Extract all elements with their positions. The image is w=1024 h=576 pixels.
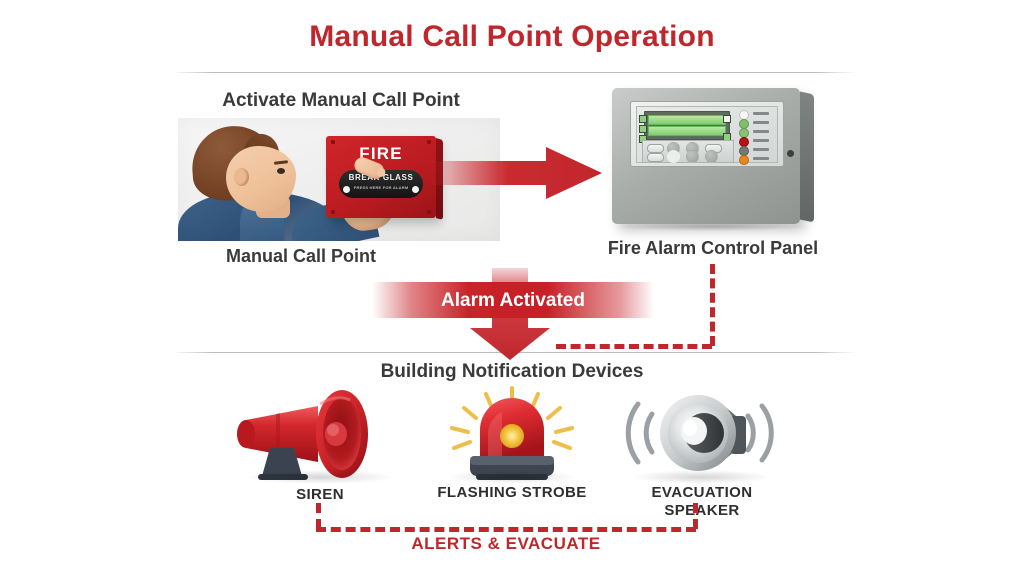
panel-button[interactable] <box>647 153 664 162</box>
strobe-light-icon <box>424 386 600 482</box>
person-eye-icon <box>277 168 285 174</box>
led-label-bar <box>753 112 769 115</box>
person-hair-icon <box>190 123 281 203</box>
section-heading-activate: Activate Manual Call Point <box>176 90 506 112</box>
device-flashing-strobe: FLASHING STROBE <box>424 386 600 518</box>
device-shadow <box>245 470 395 484</box>
person-face-icon <box>226 146 296 212</box>
footer-bracket-left <box>316 503 321 529</box>
lcd-status-square <box>723 115 731 123</box>
device-label-line-2: SPEAKER <box>614 502 790 520</box>
panel-button[interactable] <box>705 150 718 163</box>
device-shadow <box>447 470 577 484</box>
panel-bezel <box>630 101 784 167</box>
panel-led-column <box>737 109 777 165</box>
loudspeaker-icon <box>614 386 790 482</box>
break-glass-label: BREAK GLASS <box>339 173 423 182</box>
person-finger-icon <box>352 155 386 181</box>
page-title: Manual Call Point Operation <box>0 20 1024 54</box>
break-glass-strip[interactable]: BREAK GLASS PRESS HERE FOR ALARM <box>339 170 423 198</box>
panel-button[interactable] <box>667 150 680 163</box>
device-label-flashing-strobe: FLASHING STROBE <box>424 484 600 502</box>
led-label-bar <box>753 157 769 160</box>
screw-icon <box>331 210 335 214</box>
footer-bracket-bottom <box>316 527 696 532</box>
indicator-dot-icon <box>412 186 419 193</box>
fire-alarm-control-panel[interactable] <box>604 88 816 230</box>
panel-enclosure <box>612 88 800 224</box>
screw-icon <box>331 140 335 144</box>
panel-faceplate <box>636 106 778 163</box>
footer-bracket-right <box>693 503 698 529</box>
panel-lcd-display <box>644 111 730 140</box>
footer-label: ALERTS & EVACUATE <box>316 534 696 554</box>
alarm-activated-label: Alarm Activated <box>372 290 654 312</box>
diagram-canvas: Manual Call Point Operation Activate Man… <box>0 0 1024 576</box>
section-heading-devices: Building Notification Devices <box>332 361 692 383</box>
alarm-activated-banner: Alarm Activated <box>372 282 654 318</box>
lcd-text-line <box>648 126 726 136</box>
screw-icon <box>427 210 431 214</box>
person-eyebrow-icon <box>274 160 288 164</box>
led-indicator <box>739 155 749 165</box>
led-label-bar <box>753 130 769 133</box>
caption-manual-call-point: Manual Call Point <box>176 246 426 267</box>
right-arrow-icon <box>420 145 602 201</box>
person-neck-icon <box>256 196 290 218</box>
device-shadow <box>632 470 772 484</box>
screw-icon <box>427 140 431 144</box>
device-label-siren: SIREN <box>232 486 408 504</box>
person-arm-icon <box>287 196 380 241</box>
panel-lock-knob-icon[interactable] <box>787 150 794 157</box>
person-ear-icon <box>234 168 249 186</box>
siren-horn-icon <box>232 388 408 480</box>
device-label-evacuation-speaker: EVACUATION SPEAKER <box>614 484 790 520</box>
device-siren: SIREN <box>232 388 408 518</box>
panel-button-row[interactable] <box>642 140 734 163</box>
break-glass-sub-label: PRESS HERE FOR ALARM <box>339 185 423 190</box>
led-label-bar <box>753 121 769 124</box>
lcd-text-line <box>648 115 726 125</box>
lcd-status-square <box>639 125 647 133</box>
led-label-bar <box>753 139 769 142</box>
device-evacuation-speaker: EVACUATION SPEAKER <box>614 386 790 532</box>
connector-dashed-horizontal <box>556 344 712 349</box>
panel-button[interactable] <box>686 150 699 163</box>
person-torso-icon <box>178 192 343 241</box>
divider-top <box>172 72 856 73</box>
connector-dashed-vertical <box>710 264 715 346</box>
indicator-dot-icon <box>343 186 350 193</box>
panel-side-face <box>800 92 814 223</box>
lcd-status-square <box>639 115 647 123</box>
led-label-bar <box>753 148 769 151</box>
person-hand-icon <box>337 174 400 233</box>
panel-button[interactable] <box>647 144 664 153</box>
device-label-line-1: EVACUATION <box>614 484 790 502</box>
